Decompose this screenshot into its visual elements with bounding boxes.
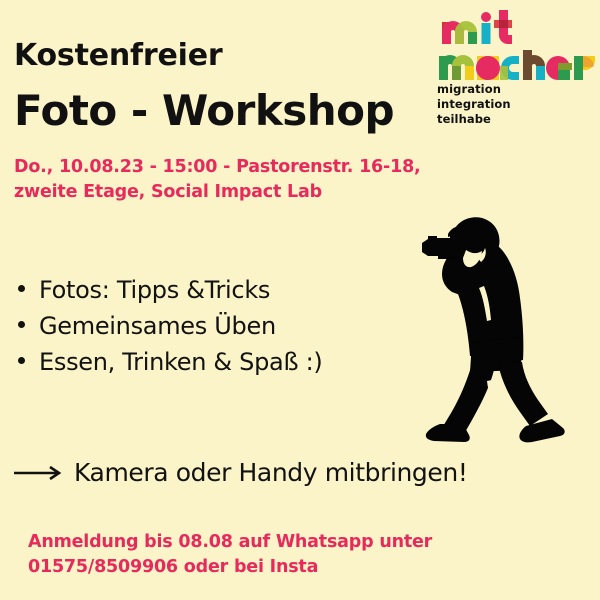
- logo-tagline: migration integration teilhabe: [437, 82, 597, 128]
- headline-line-1: Kostenfreier: [14, 38, 222, 73]
- logo-wordmark: [437, 8, 597, 80]
- list-item: Essen, Trinken & Spaß :): [18, 344, 322, 380]
- event-details-line-2: zweite Etage, Social Impact Lab: [14, 180, 434, 205]
- photographer-silhouette: [414, 212, 600, 448]
- event-details-line-1: Do., 10.08.23 - 15:00 - Pastorenstr. 16-…: [14, 155, 434, 180]
- logo-tagline-line-2: integration: [437, 97, 597, 112]
- signup-info-line-2: 01575/8509906 oder bei Insta: [28, 555, 432, 580]
- headline-line-2: Foto - Workshop: [14, 86, 394, 135]
- list-item-label: Essen, Trinken & Spaß :): [39, 344, 322, 380]
- bullet-dot-icon: [18, 357, 25, 364]
- photographer-silhouette-svg: [414, 212, 600, 448]
- list-item: Fotos: Tipps &Tricks: [18, 272, 322, 308]
- bullet-dot-icon: [18, 285, 25, 292]
- bring-note-text: Kamera oder Handy mitbringen!: [74, 458, 467, 487]
- agenda-bullet-list: Fotos: Tipps &Tricks Gemeinsames Üben Es…: [18, 272, 322, 380]
- logo-tagline-line-3: teilhabe: [437, 112, 597, 127]
- list-item-label: Fotos: Tipps &Tricks: [39, 272, 270, 308]
- bullet-dot-icon: [18, 321, 25, 328]
- poster-canvas: migration integration teilhabe Kostenfre…: [0, 0, 600, 600]
- event-details: Do., 10.08.23 - 15:00 - Pastorenstr. 16-…: [14, 155, 434, 206]
- signup-info-line-1: Anmeldung bis 08.08 auf Whatsapp unter: [28, 530, 432, 555]
- mitmacher-logo: migration integration teilhabe: [437, 8, 597, 128]
- bring-note: Kamera oder Handy mitbringen!: [12, 458, 467, 487]
- list-item-label: Gemeinsames Üben: [39, 308, 276, 344]
- logo-tagline-line-1: migration: [437, 82, 597, 97]
- logo-wordmark-svg: [437, 8, 597, 80]
- list-item: Gemeinsames Üben: [18, 308, 322, 344]
- signup-info: Anmeldung bis 08.08 auf Whatsapp unter 0…: [28, 530, 432, 581]
- arrow-right-icon: [12, 463, 64, 483]
